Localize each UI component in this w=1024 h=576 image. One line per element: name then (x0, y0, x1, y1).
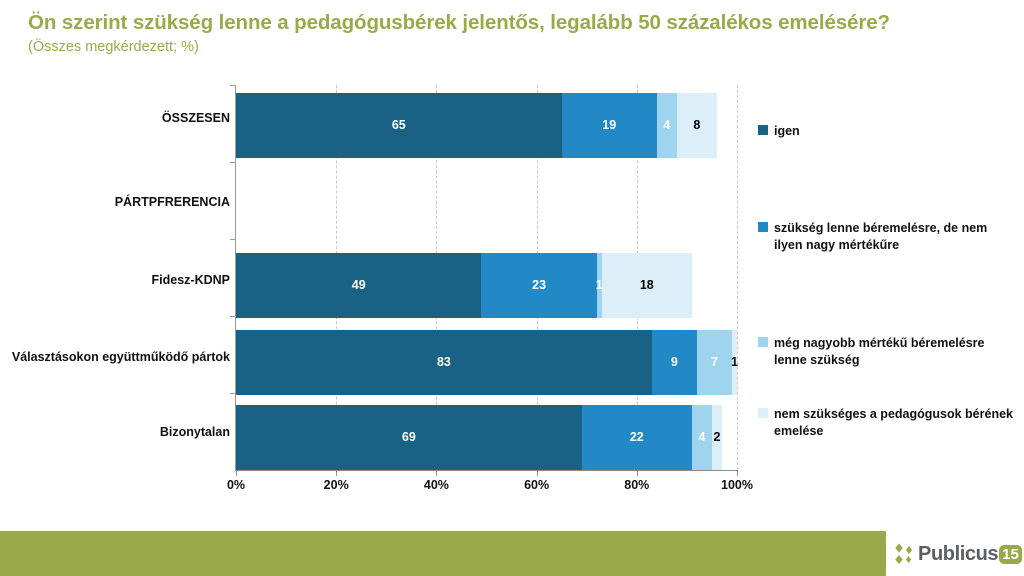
x-axis-tick (236, 470, 237, 476)
stacked-bar[interactable]: 692242 (236, 405, 737, 470)
publicus-logo: Publicus 15 (893, 538, 1022, 570)
bar-segment[interactable]: 2 (712, 405, 722, 470)
bar-segment[interactable]: 49 (236, 253, 481, 318)
legend-label: nem szükséges a pedagógusok bérének emel… (774, 406, 1016, 440)
x-axis-tick (336, 470, 337, 476)
stacked-bar[interactable]: 651948 (236, 93, 737, 158)
y-axis-tick (230, 393, 236, 394)
stacked-bar[interactable]: 4923118 (236, 253, 737, 318)
category-label: Bizonytalan (0, 425, 230, 440)
category-label: Fidesz-KDNP (0, 273, 230, 288)
logo-year-badge: 15 (999, 545, 1022, 564)
x-axis-tick-label: 100% (721, 478, 753, 492)
page-subtitle: (Összes megkérdezett; %) (28, 38, 988, 57)
bar-segment[interactable]: 19 (562, 93, 657, 158)
x-axis-tick-label: 40% (424, 478, 449, 492)
logo-wordmark: Publicus (918, 544, 998, 564)
y-axis-tick (230, 316, 236, 317)
category-label: ÖSSZESEN (0, 111, 230, 126)
title-block: Ön szerint szükség lenne a pedagógusbére… (28, 10, 988, 56)
category-label: Választásokon együttműködő pártok (0, 350, 230, 365)
footer-band (0, 531, 886, 576)
bar-segment[interactable]: 8 (677, 93, 717, 158)
bar-segment[interactable]: 7 (697, 330, 732, 395)
bar-segment[interactable]: 23 (481, 253, 596, 318)
bar-value-label: 23 (532, 279, 546, 292)
legend-swatch-icon (758, 222, 768, 232)
bar-segment[interactable]: 9 (652, 330, 697, 395)
x-axis-tick-label: 80% (624, 478, 649, 492)
x-axis-line (235, 470, 738, 471)
bar-segment[interactable]: 69 (236, 405, 582, 470)
legend-swatch-icon (758, 337, 768, 347)
bar-value-label: 7 (711, 356, 718, 369)
category-axis-labels: ÖSSZESENPÁRTPFRERENCIAFidesz-KDNPVálaszt… (0, 85, 230, 470)
legend-label: szükség lenne béremelésre, de nem ilyen … (774, 220, 1016, 254)
bar-segment[interactable]: 65 (236, 93, 562, 158)
legend-swatch-icon (758, 408, 768, 418)
y-axis-tick (230, 162, 236, 163)
legend-label: még nagyobb mértékű béremelésre lenne sz… (774, 335, 1016, 369)
x-axis-tick-label: 0% (227, 478, 245, 492)
x-axis-tick-label: 20% (324, 478, 349, 492)
chart-legend: igenszükség lenne béremelésre, de nem il… (758, 85, 1020, 485)
bar-segment[interactable]: 4 (692, 405, 712, 470)
bar-value-label: 2 (713, 431, 720, 444)
gridline (737, 85, 739, 470)
bar-value-label: 22 (630, 431, 644, 444)
diamond-cluster-icon (893, 542, 915, 566)
bar-segment[interactable]: 18 (602, 253, 692, 318)
bar-value-label: 9 (671, 356, 678, 369)
legend-item[interactable]: nem szükséges a pedagógusok bérének emel… (758, 406, 1016, 440)
bar-value-label: 4 (663, 119, 670, 132)
bar-value-label: 18 (640, 279, 654, 292)
stacked-bar[interactable]: 83971 (236, 330, 737, 395)
plot-area: 651948492311883971692242 (236, 85, 737, 470)
bar-segment[interactable]: 22 (582, 405, 692, 470)
legend-item[interactable]: még nagyobb mértékű béremelésre lenne sz… (758, 335, 1016, 369)
y-axis-tick (230, 85, 236, 86)
legend-item[interactable]: szükség lenne béremelésre, de nem ilyen … (758, 220, 1016, 254)
x-axis-tick (737, 470, 738, 476)
x-axis-tick (537, 470, 538, 476)
bar-segment[interactable]: 1 (732, 330, 737, 395)
bar-value-label: 19 (602, 119, 616, 132)
bar-value-label: 65 (392, 119, 406, 132)
x-axis-tick (637, 470, 638, 476)
x-axis-tick (436, 470, 437, 476)
legend-item[interactable]: igen (758, 123, 1016, 140)
bar-value-label: 4 (698, 431, 705, 444)
bar-value-label: 8 (693, 119, 700, 132)
bar-segment[interactable]: 4 (657, 93, 677, 158)
bar-value-label: 49 (352, 279, 366, 292)
bar-value-label: 1 (731, 356, 738, 369)
bar-value-label: 69 (402, 431, 416, 444)
bar-segment[interactable]: 83 (236, 330, 652, 395)
legend-label: igen (774, 123, 800, 140)
page-title: Ön szerint szükség lenne a pedagógusbére… (28, 10, 988, 36)
bar-value-label: 83 (437, 356, 451, 369)
category-label: PÁRTPFRERENCIA (0, 195, 230, 210)
legend-swatch-icon (758, 125, 768, 135)
x-axis-tick-labels: 0%20%40%60%80%100% (236, 478, 737, 502)
y-axis-tick (230, 239, 236, 240)
x-axis-tick-label: 60% (524, 478, 549, 492)
